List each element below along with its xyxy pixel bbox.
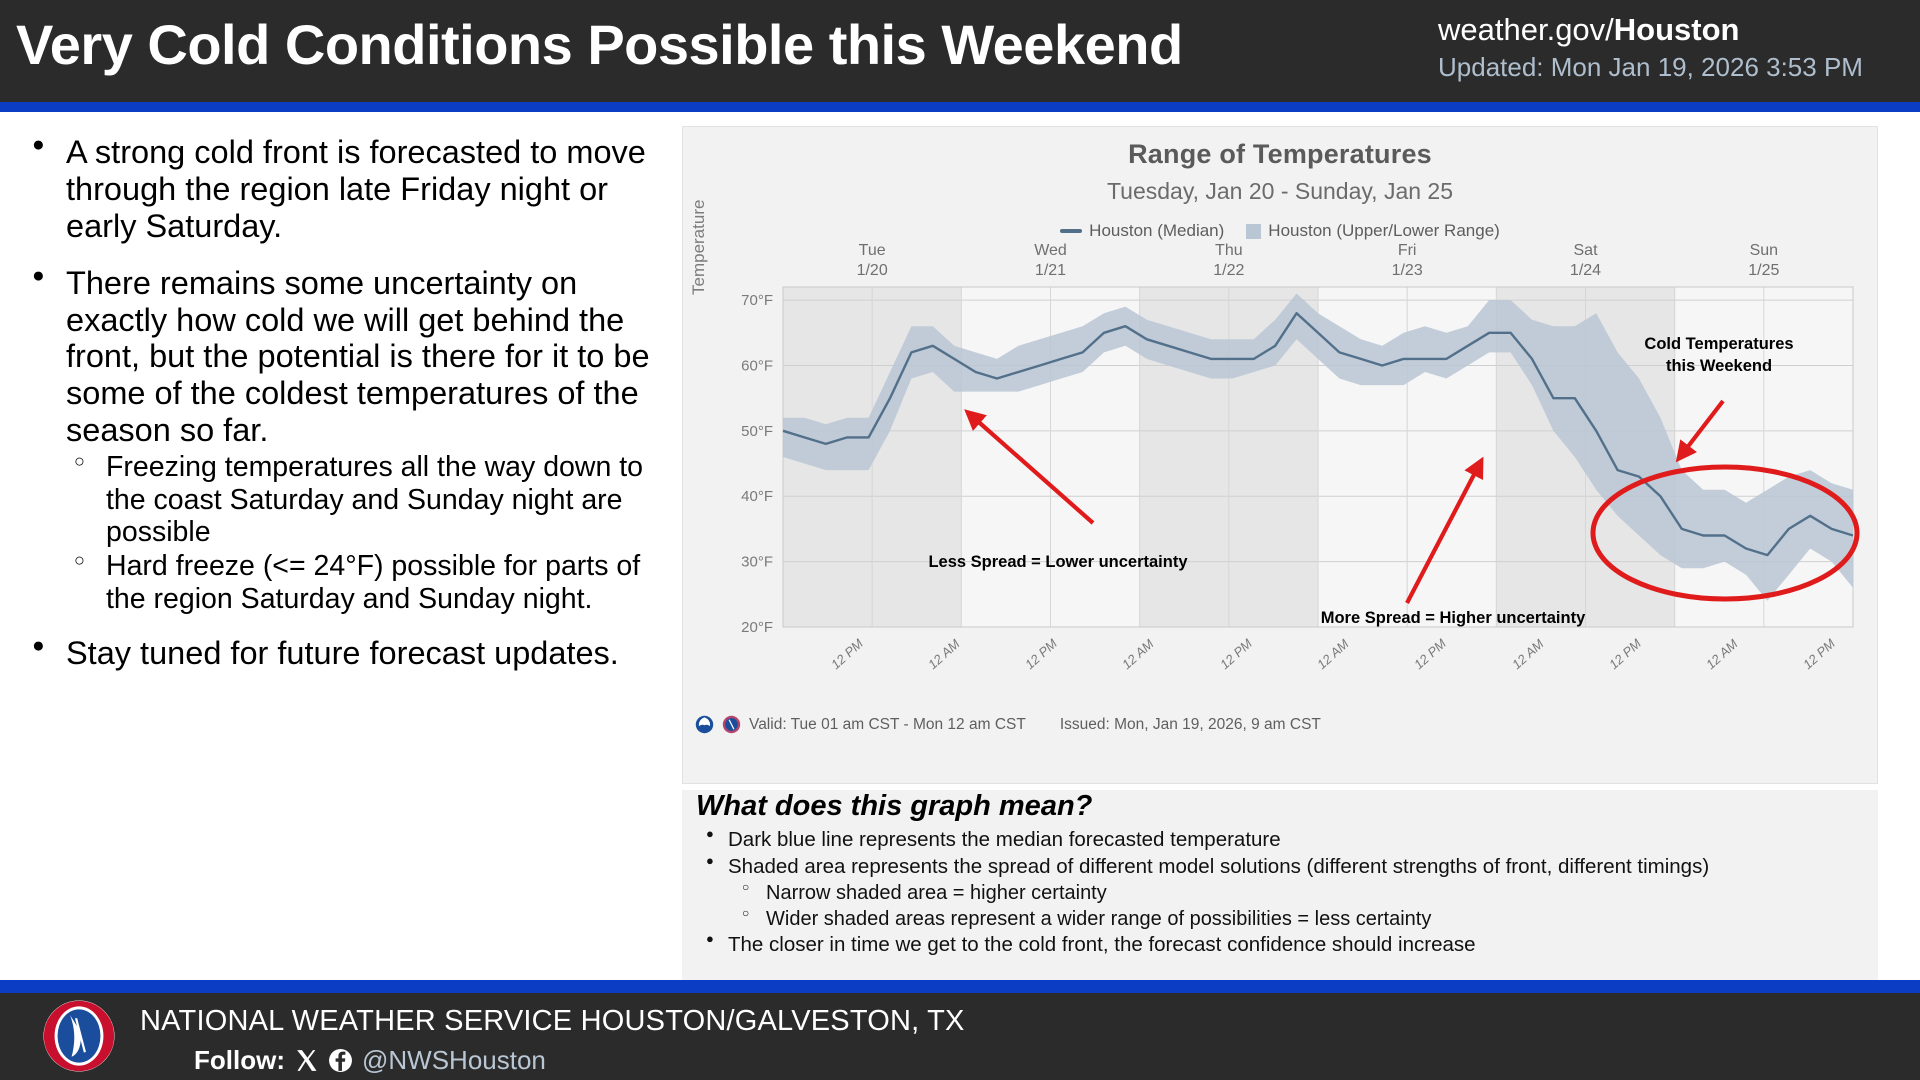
key-message-text: A strong cold front is forecasted to mov…	[66, 134, 646, 244]
day-label-dayname: Sat	[1570, 241, 1601, 261]
day-label-dayname: Wed	[1034, 241, 1067, 261]
page-footer: NATIONAL WEATHER SERVICE HOUSTON/GALVEST…	[0, 993, 1920, 1080]
cold-temps-label-line1: Cold Temperatures	[1644, 335, 1793, 353]
explanation-item: The closer in time we get to the cold fr…	[696, 932, 1864, 959]
footer-follow-row: Follow: @NWSHouston	[194, 1045, 546, 1076]
y-tick-label: 30°F	[741, 554, 773, 571]
brand-prefix: weather.gov/	[1438, 12, 1614, 47]
chart-time-tick-labels: 12 PM12 AM12 PM12 AM12 PM12 AM12 PM12 AM…	[683, 657, 1879, 701]
page-title: Very Cold Conditions Possible this Weeke…	[16, 12, 1183, 77]
legend-label-range: Houston (Upper/Lower Range)	[1268, 221, 1500, 241]
chart-validity-row: Valid: Tue 01 am CST - Mon 12 am CST Iss…	[695, 715, 1321, 734]
legend-item-range: Houston (Upper/Lower Range)	[1246, 221, 1500, 241]
follow-label: Follow:	[194, 1045, 285, 1076]
key-messages-list: A strong cold front is forecasted to mov…	[14, 134, 662, 672]
nws-logo-icon	[42, 999, 116, 1073]
explanation-heading: What does this graph mean?	[696, 790, 1864, 823]
header-accent-rule	[0, 102, 1920, 112]
explanation-item: Dark blue line represents the median for…	[696, 827, 1864, 854]
chart-title: Range of Temperatures	[683, 139, 1877, 170]
more-spread-label: More Spread = Higher uncertainty	[1321, 609, 1586, 627]
legend-label-median: Houston (Median)	[1089, 221, 1224, 241]
graph-explanation-panel: What does this graph mean? Dark blue lin…	[682, 790, 1878, 980]
brand-office: Houston	[1614, 12, 1740, 47]
y-tick-label: 20°F	[741, 619, 773, 636]
chart-svg: 20°F30°F40°F50°F60°F70°FLess Spread = Lo…	[683, 275, 1879, 655]
x-twitter-icon[interactable]	[294, 1048, 319, 1073]
chart-legend: Houston (Median) Houston (Upper/Lower Ra…	[683, 221, 1877, 241]
explanation-subitem: Narrow shaded area = higher certainty	[728, 880, 1864, 906]
chart-issued-text: Issued: Mon, Jan 19, 2026, 9 am CST	[1060, 716, 1321, 734]
page-header: Very Cold Conditions Possible this Weeke…	[0, 0, 1920, 102]
slide-root: Very Cold Conditions Possible this Weeke…	[0, 0, 1920, 1080]
legend-swatch-icon	[1246, 224, 1261, 239]
legend-line-icon	[1060, 229, 1082, 233]
key-message-sublist: Freezing temperatures all the way down t…	[66, 451, 662, 615]
explanation-text: The closer in time we get to the cold fr…	[728, 933, 1476, 956]
footer-accent-rule	[0, 980, 1920, 993]
temperature-range-chart: Range of Temperatures Tuesday, Jan 20 - …	[682, 126, 1878, 784]
footer-office-name: NATIONAL WEATHER SERVICE HOUSTON/GALVEST…	[140, 1005, 965, 1038]
cold-temps-label-line2: this Weekend	[1666, 357, 1772, 375]
y-tick-label: 40°F	[741, 488, 773, 505]
chart-valid-text: Valid: Tue 01 am CST - Mon 12 am CST	[749, 716, 1026, 734]
day-label-dayname: Thu	[1213, 241, 1244, 261]
explanation-sublist: Narrow shaded area = higher certaintyWid…	[728, 880, 1864, 932]
header-brand-block: weather.gov/Houston Updated: Mon Jan 19,…	[1438, 12, 1898, 83]
key-messages-panel: A strong cold front is forecasted to mov…	[0, 112, 676, 980]
key-message-text: There remains some uncertainty on exactl…	[66, 265, 650, 449]
key-message-subitem: Hard freeze (<= 24°F) possible for parts…	[66, 550, 662, 615]
nws-icon	[722, 715, 741, 734]
key-message-item: A strong cold front is forecasted to mov…	[14, 134, 662, 245]
key-message-text: Stay tuned for future forecast updates.	[66, 635, 619, 671]
day-label-dayname: Fri	[1392, 241, 1423, 261]
updated-timestamp: Updated: Mon Jan 19, 2026 3:53 PM	[1438, 52, 1898, 83]
chart-plot-area: 20°F30°F40°F50°F60°F70°FLess Spread = Lo…	[683, 275, 1879, 655]
y-tick-label: 60°F	[741, 357, 773, 374]
explanation-list: Dark blue line represents the median for…	[696, 827, 1864, 959]
y-tick-label: 50°F	[741, 423, 773, 440]
day-label-dayname: Tue	[857, 241, 888, 261]
explanation-text: Dark blue line represents the median for…	[728, 828, 1281, 851]
explanation-subitem: Wider shaded areas represent a wider ran…	[728, 906, 1864, 932]
key-message-subitem: Freezing temperatures all the way down t…	[66, 451, 662, 549]
explanation-item: Shaded area represents the spread of dif…	[696, 854, 1864, 933]
key-message-item: There remains some uncertainty on exactl…	[14, 265, 662, 616]
key-message-item: Stay tuned for future forecast updates.	[14, 635, 662, 672]
chart-subtitle: Tuesday, Jan 20 - Sunday, Jan 25	[683, 178, 1877, 205]
facebook-icon[interactable]	[328, 1048, 353, 1073]
less-spread-label: Less Spread = Lower uncertainty	[928, 553, 1188, 571]
legend-item-median: Houston (Median)	[1060, 221, 1224, 241]
brand-url: weather.gov/Houston	[1438, 12, 1898, 48]
chart-day-labels: Tue1/20Wed1/21Thu1/22Fri1/23Sat1/24Sun1/…	[683, 239, 1879, 275]
social-handle: @NWSHouston	[362, 1045, 546, 1076]
day-label-dayname: Sun	[1748, 241, 1779, 261]
explanation-text: Shaded area represents the spread of dif…	[728, 855, 1709, 878]
y-tick-label: 70°F	[741, 292, 773, 309]
noaa-icon	[695, 715, 714, 734]
